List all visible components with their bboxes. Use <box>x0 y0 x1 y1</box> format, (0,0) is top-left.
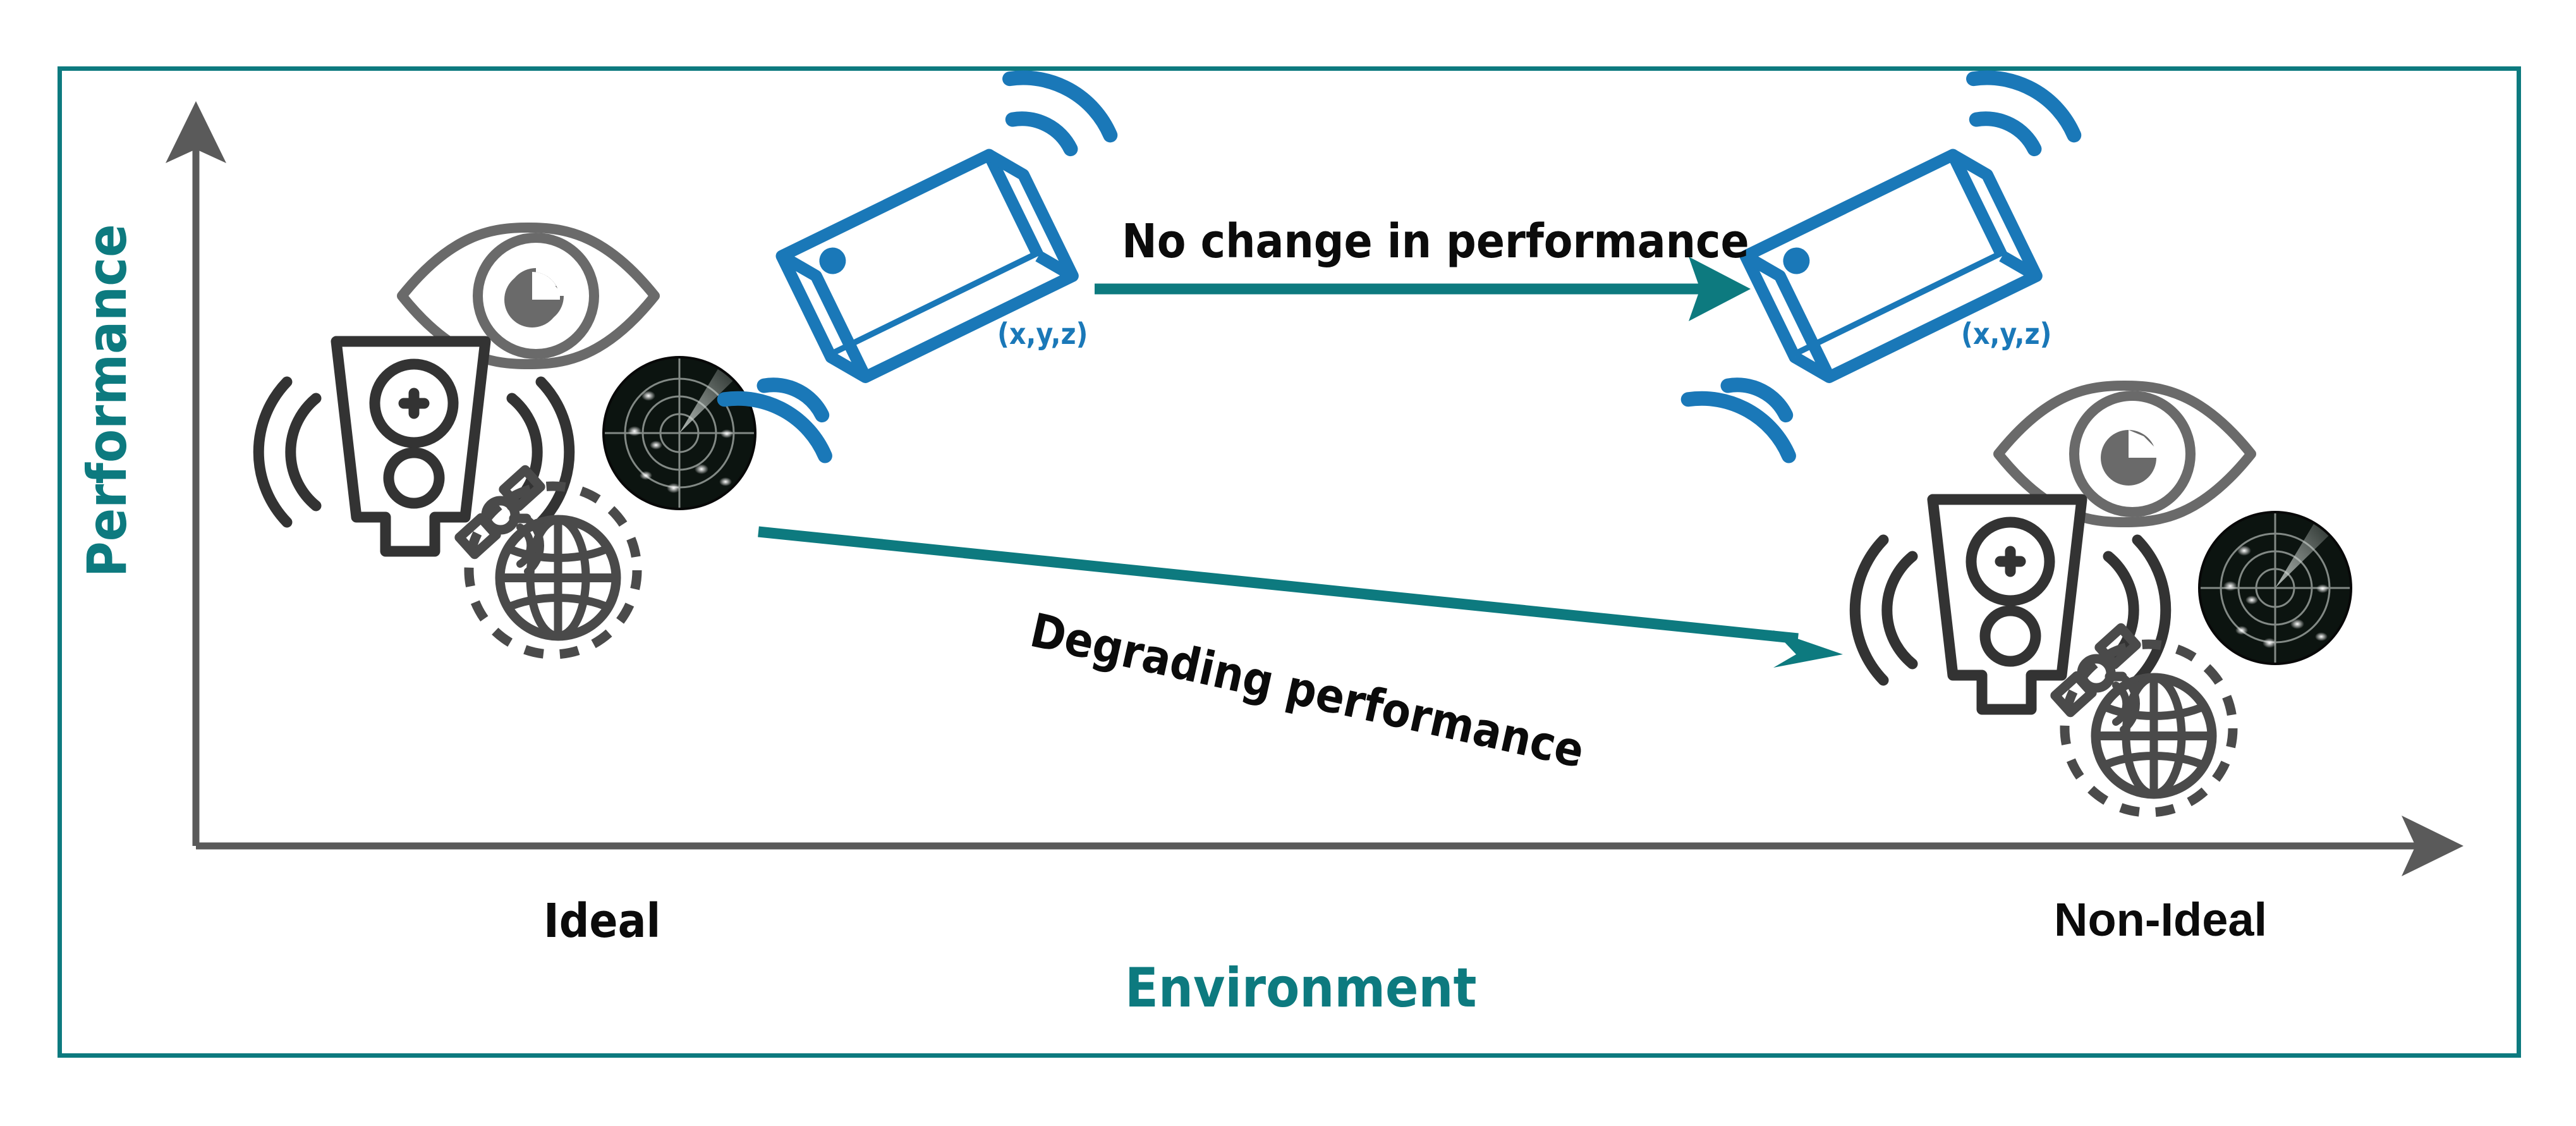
x-tick-label-ideal: Ideal <box>544 898 660 945</box>
y-axis <box>166 101 226 846</box>
rf-coordinate-label: (x,y,z) <box>1961 319 2051 348</box>
satellite-globe-icon <box>459 470 637 654</box>
y-axis-label: Performance <box>80 286 135 577</box>
x-axis <box>196 816 2464 876</box>
radar-screen-icon <box>602 356 756 510</box>
rf-coordinate-label: (x,y,z) <box>997 319 1088 348</box>
x-tick-label-non-ideal: Non-Ideal <box>2054 897 2267 943</box>
radar-screen-icon <box>2198 511 2352 665</box>
diagram-canvas: Performance Environment Ideal Non-Ideal … <box>0 0 2576 1126</box>
annotation-no-change-label: No change in performance <box>1122 218 1749 265</box>
x-axis-label: Environment <box>1125 961 1477 1015</box>
satellite-globe-icon <box>2055 628 2233 812</box>
degrading-arrow <box>758 532 1843 668</box>
